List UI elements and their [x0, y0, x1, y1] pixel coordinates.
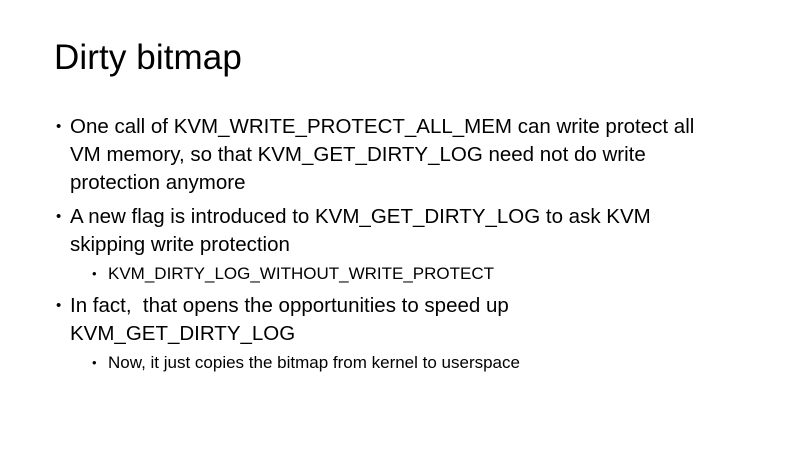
sub-bullet-list: KVM_DIRTY_LOG_WITHOUT_WRITE_PROTECT [70, 261, 726, 286]
list-item: Now, it just copies the bitmap from kern… [90, 350, 726, 375]
bullet-text: One call of KVM_WRITE_PROTECT_ALL_MEM ca… [70, 113, 718, 197]
list-item: A new flag is introduced to KVM_GET_DIRT… [54, 203, 726, 286]
list-item: In fact, that opens the opportunities to… [54, 292, 726, 375]
page-title: Dirty bitmap [54, 36, 754, 80]
sub-bullet-list: Now, it just copies the bitmap from kern… [70, 350, 726, 375]
bullet-list: One call of KVM_WRITE_PROTECT_ALL_MEM ca… [54, 113, 726, 375]
bullet-text: In fact, that opens the opportunities to… [70, 292, 590, 348]
list-item: One call of KVM_WRITE_PROTECT_ALL_MEM ca… [54, 113, 726, 197]
sub-bullet-text: Now, it just copies the bitmap from kern… [108, 350, 726, 375]
presentation-slide: Dirty bitmap One call of KVM_WRITE_PROTE… [0, 0, 800, 450]
list-item: KVM_DIRTY_LOG_WITHOUT_WRITE_PROTECT [90, 261, 726, 286]
sub-bullet-text: KVM_DIRTY_LOG_WITHOUT_WRITE_PROTECT [108, 261, 726, 286]
bullet-text: A new flag is introduced to KVM_GET_DIRT… [70, 203, 680, 259]
slide-body: One call of KVM_WRITE_PROTECT_ALL_MEM ca… [54, 113, 726, 381]
